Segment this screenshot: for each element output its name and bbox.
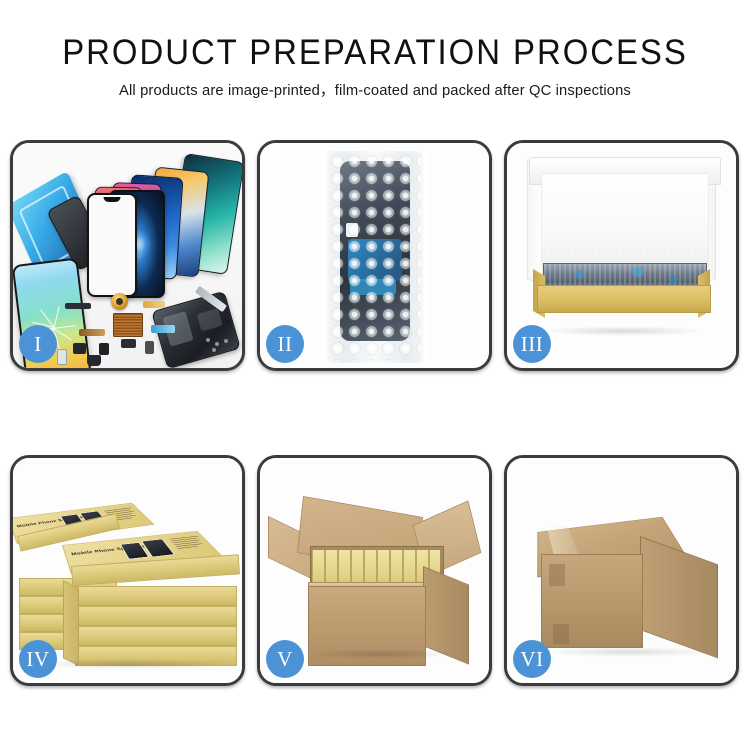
step-badge-6: VI (513, 640, 551, 678)
sim-tray-icon (57, 349, 67, 365)
step-panel-3: III (504, 140, 739, 371)
stack-right-layer-2 (75, 626, 237, 646)
step-badge-4: IV (19, 640, 57, 678)
flex-cable-blue-icon (151, 325, 175, 333)
carton-seam-bottom (553, 624, 569, 644)
step-badge-2: II (266, 325, 304, 363)
carton-seam-top (549, 564, 565, 586)
component-chip-2-icon (99, 343, 109, 355)
drop-shadow (304, 649, 454, 659)
step-badge-3: III (513, 325, 551, 363)
header: PRODUCT PREPARATION PROCESS All products… (0, 0, 750, 101)
stack-right-side (63, 580, 79, 666)
screws-icon (206, 338, 232, 352)
box-front-panel (537, 285, 711, 313)
vibration-motor-icon (111, 293, 128, 310)
tempered-glass-icon (87, 193, 137, 297)
step-panel-1: I (10, 140, 245, 371)
stack-right-layer-4 (75, 586, 237, 606)
step-badge-1: I (19, 325, 57, 363)
page-subtitle: All products are image-printed，film-coat… (11, 81, 739, 101)
carton-side-panel (640, 536, 718, 658)
spec-list-front (169, 536, 208, 550)
step-panel-4: Mobile Phone Spare Parts Mobile Phone Sp… (10, 455, 245, 686)
white-foam-liner (541, 173, 709, 267)
step-badge-5: V (266, 640, 304, 678)
copper-shield-icon (113, 313, 143, 337)
drop-shadow (543, 647, 713, 657)
component-chip-3-icon (121, 339, 136, 348)
process-steps-grid: I II (10, 140, 740, 686)
camera-module-icon (87, 355, 101, 366)
earpiece-speaker-icon (65, 303, 91, 309)
step-panel-6: VI (504, 455, 739, 686)
step-panel-5: V (257, 455, 492, 686)
bag-edge (322, 149, 428, 365)
step-panel-2: II (257, 140, 492, 371)
flex-cable-brown-icon (79, 329, 105, 336)
component-chip-1-icon (73, 343, 86, 354)
drop-shadow (33, 659, 223, 669)
page-title: PRODUCT PREPARATION PROCESS (23, 33, 728, 73)
drop-shadow (541, 326, 705, 336)
flex-cable-gold-icon (143, 301, 165, 308)
battery-connector-icon (145, 341, 154, 354)
product-preparation-infographic: PRODUCT PREPARATION PROCESS All products… (0, 0, 750, 750)
stack-right-layer-3 (75, 606, 237, 626)
